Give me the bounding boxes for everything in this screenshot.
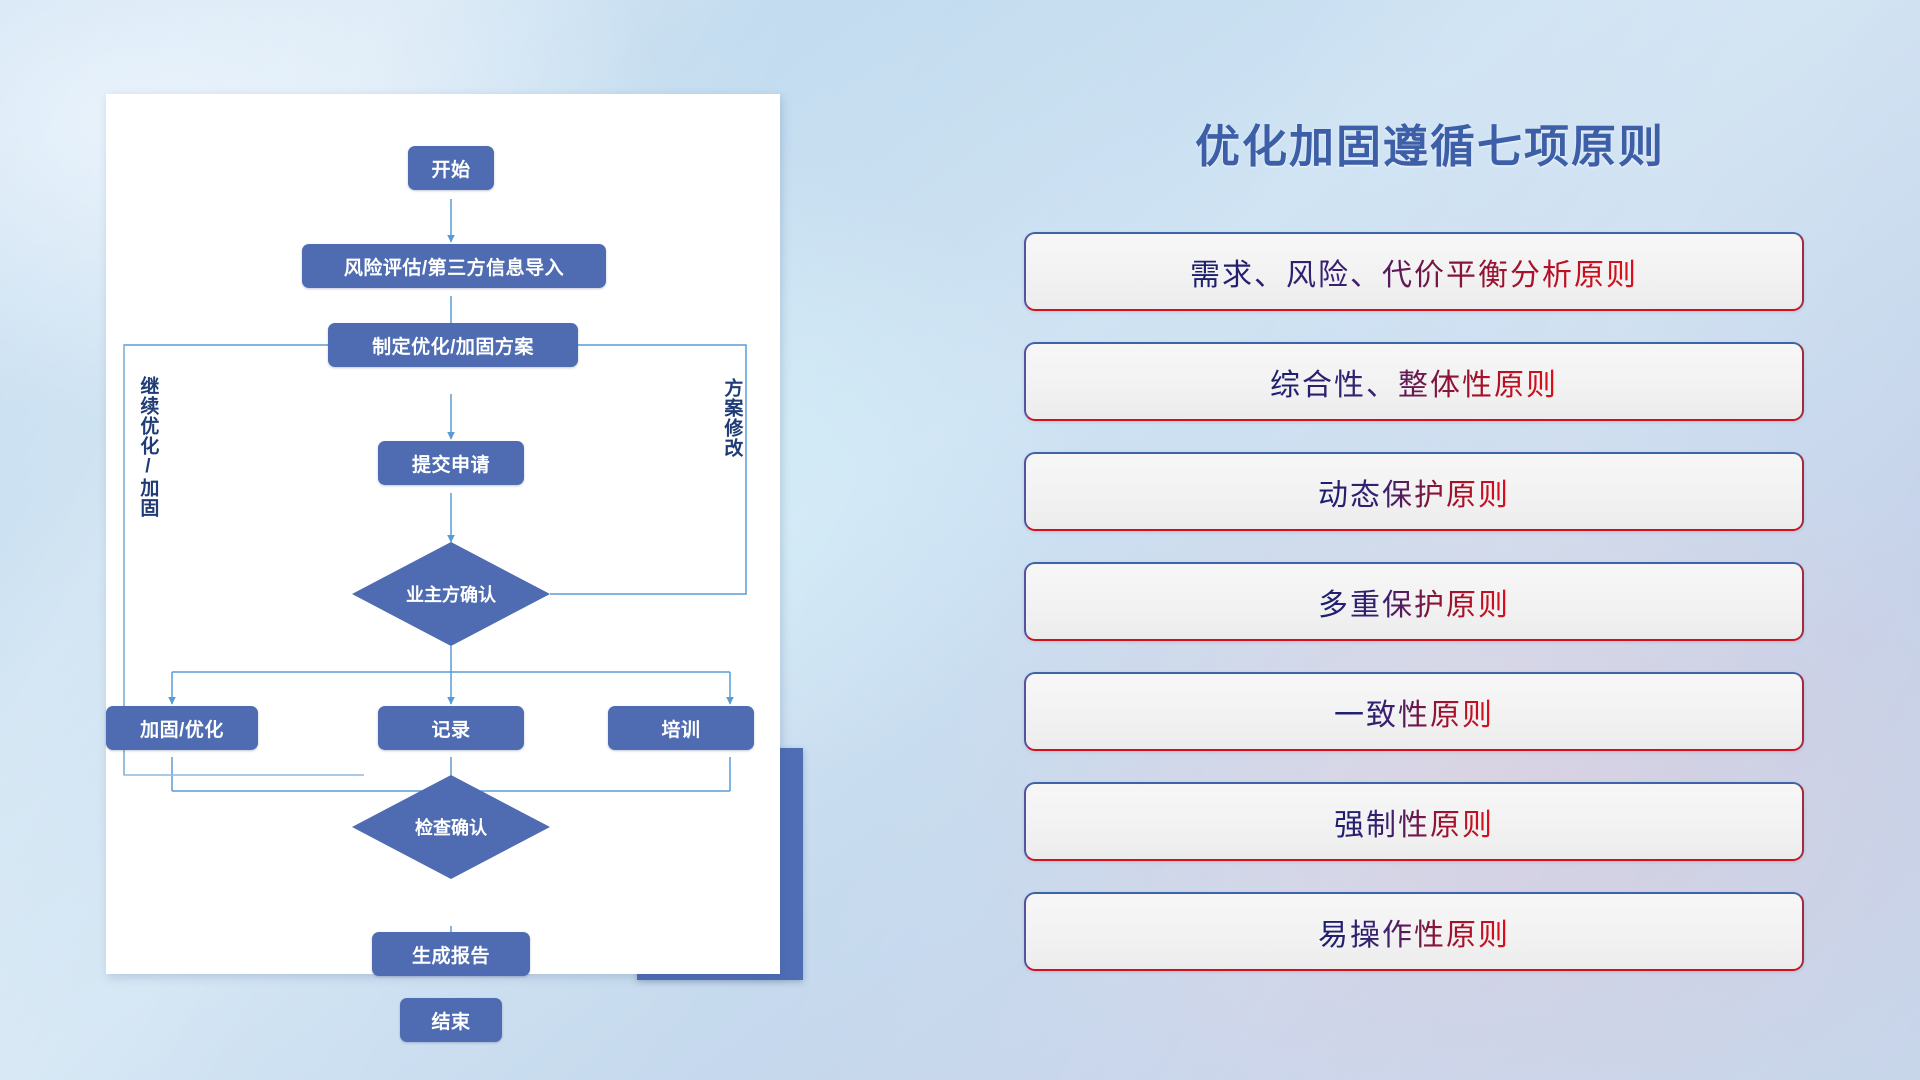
flow-node-label: 培训 — [661, 715, 700, 742]
diamond-shape — [352, 775, 550, 879]
edge-label-text: 继续优化/加固 — [137, 376, 158, 518]
edge-label-text: 方案修改 — [721, 378, 742, 458]
flow-node-label: 风险评估/第三方信息导入 — [344, 253, 564, 280]
flow-node-training[interactable]: 培训 — [608, 706, 754, 750]
principle-label: 一致性原则 — [1334, 690, 1494, 734]
principle-item-1[interactable]: 需求、风险、代价平衡分析原则 — [1024, 232, 1804, 311]
principle-label: 多重保护原则 — [1318, 580, 1510, 624]
principle-item-2[interactable]: 综合性、整体性原则 — [1024, 342, 1804, 421]
flow-node-risk-assessment[interactable]: 风险评估/第三方信息导入 — [302, 244, 606, 288]
principle-item-5[interactable]: 一致性原则 — [1024, 672, 1804, 751]
flow-decision-check-confirm[interactable]: 检查确认 — [352, 775, 550, 879]
principle-item-4[interactable]: 多重保护原则 — [1024, 562, 1804, 641]
principle-label: 强制性原则 — [1334, 800, 1494, 844]
principles-list: 需求、风险、代价平衡分析原则 综合性、整体性原则 动态保护原则 多重保护原则 一… — [1024, 232, 1804, 1002]
flow-node-start[interactable]: 开始 — [408, 146, 494, 190]
flow-node-submit-application[interactable]: 提交申请 — [378, 441, 524, 485]
principle-label: 动态保护原则 — [1318, 470, 1510, 514]
slide-canvas: 开始 风险评估/第三方信息导入 制定优化/加固方案 提交申请 业主方确认 加固/… — [0, 0, 1920, 1080]
principle-label: 综合性、整体性原则 — [1270, 360, 1558, 404]
edge-label-plan-revision: 方案修改 — [722, 378, 741, 458]
flow-node-end[interactable]: 结束 — [400, 998, 502, 1042]
flow-node-label: 开始 — [431, 155, 470, 182]
edge-label-continue-optimize: 继续优化/加固 — [138, 376, 157, 518]
flow-node-label: 生成报告 — [412, 941, 490, 968]
flow-node-reinforce-optimize[interactable]: 加固/优化 — [106, 706, 258, 750]
principle-item-3[interactable]: 动态保护原则 — [1024, 452, 1804, 531]
flow-node-record[interactable]: 记录 — [378, 706, 524, 750]
flow-node-make-plan[interactable]: 制定优化/加固方案 — [328, 323, 578, 367]
flow-node-label: 加固/优化 — [140, 715, 224, 742]
page-title-text: 优化加固遵循七项原则 — [1195, 121, 1665, 172]
flowchart-card: 开始 风险评估/第三方信息导入 制定优化/加固方案 提交申请 业主方确认 加固/… — [106, 94, 780, 974]
diamond-shape — [352, 542, 550, 646]
flow-node-generate-report[interactable]: 生成报告 — [372, 932, 530, 976]
page-title: 优化加固遵循七项原则 — [1030, 110, 1830, 175]
flow-node-label: 提交申请 — [412, 450, 490, 477]
principle-item-6[interactable]: 强制性原则 — [1024, 782, 1804, 861]
flow-node-label: 结束 — [431, 1007, 470, 1034]
principle-item-7[interactable]: 易操作性原则 — [1024, 892, 1804, 971]
flow-node-label: 记录 — [431, 715, 470, 742]
flow-node-label: 制定优化/加固方案 — [372, 332, 534, 359]
flow-decision-owner-confirm[interactable]: 业主方确认 — [352, 542, 550, 646]
principle-label: 需求、风险、代价平衡分析原则 — [1190, 250, 1638, 294]
principle-label: 易操作性原则 — [1318, 910, 1510, 954]
